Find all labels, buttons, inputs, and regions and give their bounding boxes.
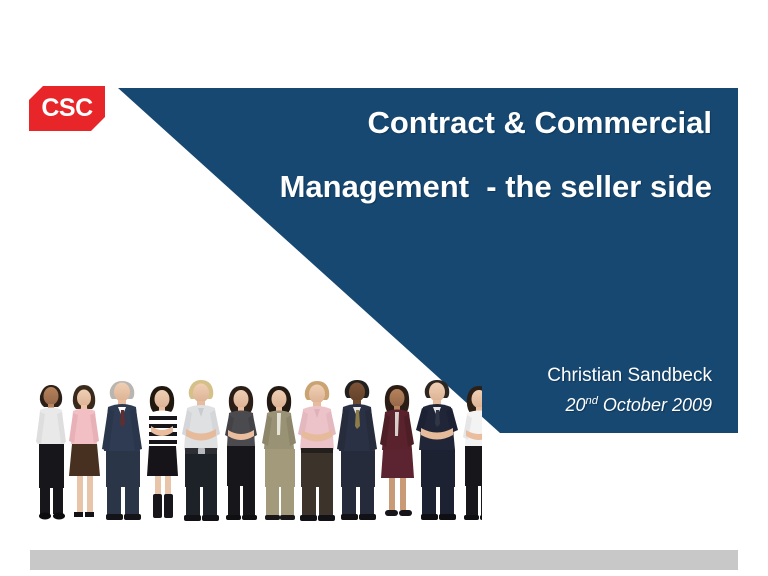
person-12 xyxy=(463,386,482,520)
person-3 xyxy=(102,381,142,520)
person-8 xyxy=(298,381,336,521)
csc-logo-text: CSC xyxy=(41,96,92,121)
person-10 xyxy=(380,385,414,516)
person-4 xyxy=(147,386,178,518)
person-11 xyxy=(416,380,458,520)
footer-bar xyxy=(30,550,738,570)
presentation-slide: CSC Contract & Commercial Management - t… xyxy=(0,0,768,576)
person-7 xyxy=(262,386,296,520)
date-rest: October 2009 xyxy=(598,395,712,415)
date-ordinal-suffix: nd xyxy=(586,395,598,407)
person-6 xyxy=(225,386,257,520)
person-9 xyxy=(337,380,377,520)
date-day: 20 xyxy=(565,395,585,415)
slide-title: Contract & Commercial Management - the s… xyxy=(130,106,712,203)
person-1 xyxy=(36,385,66,520)
business-people-photo xyxy=(22,368,482,528)
person-5 xyxy=(182,380,220,521)
title-line-1: Contract & Commercial xyxy=(130,106,712,139)
title-line-2: Management - the seller side xyxy=(130,170,712,203)
csc-logo[interactable]: CSC xyxy=(29,86,105,131)
person-2 xyxy=(69,385,100,517)
